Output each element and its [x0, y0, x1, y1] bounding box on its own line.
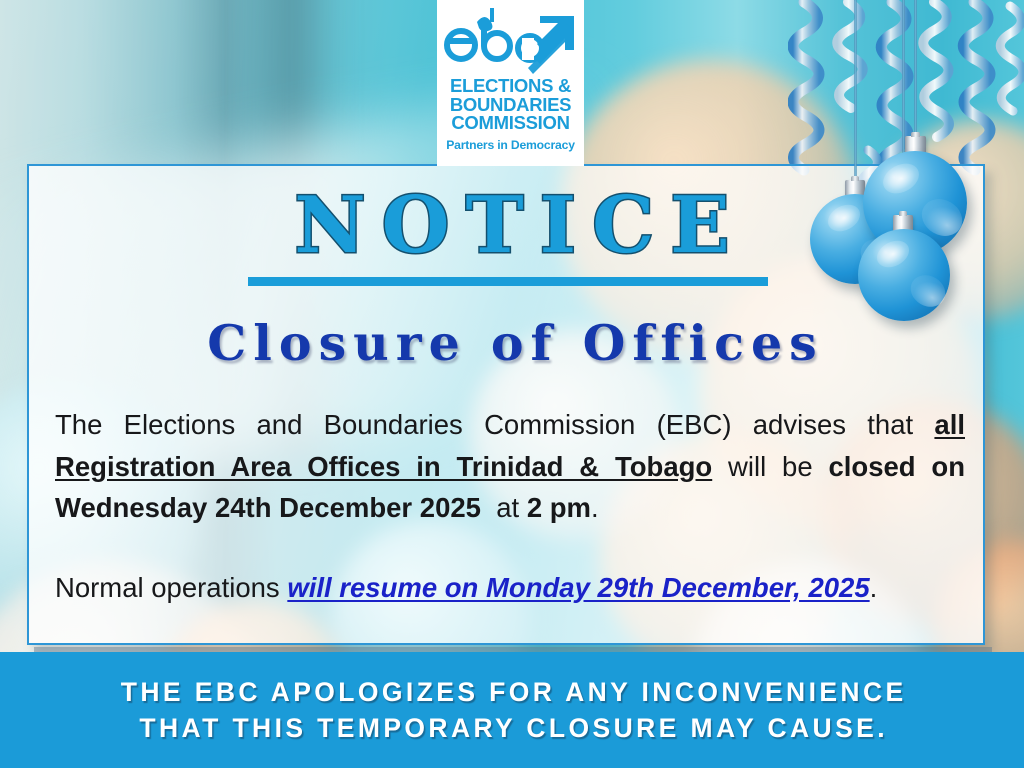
body-p2-period: . — [870, 572, 878, 603]
ebc-monogram-arrow-icon — [444, 8, 578, 74]
notice-poster: ELECTIONS & BOUNDARIES COMMISSION Partne… — [0, 0, 1024, 768]
body-paragraph-2: Normal operations will resume on Monday … — [55, 567, 965, 650]
notice-heading-wrap: NOTICE — [0, 186, 1024, 266]
page-title: NOTICE — [278, 186, 745, 266]
logo-name-line-1: ELECTIONS & — [450, 77, 571, 96]
body-p1-period: . — [591, 492, 599, 523]
title-underline-bar — [248, 277, 768, 286]
body-p1-part1: The Elections and Boundaries Commission … — [55, 409, 934, 440]
footer-line-2: THAT THIS TEMPORARY CLOSURE MAY CAUSE. — [136, 710, 888, 746]
body-paragraph-1: The Elections and Boundaries Commission … — [55, 404, 965, 529]
logo-name-line-3: COMMISSION — [450, 114, 571, 133]
body-p1-closure-time: 2 pm — [527, 492, 591, 523]
body-p1-part5: at — [481, 492, 527, 523]
body-p2-resume-date: will resume on Monday 29th December, 202… — [287, 572, 869, 603]
paragraph-spacer — [55, 529, 965, 567]
logo-tagline: Partners in Democracy — [446, 138, 575, 152]
body-p1-part3: will be — [712, 451, 828, 482]
footer-line-1: THE EBC APOLOGIZES FOR ANY INCONVENIENCE — [117, 674, 906, 710]
apology-footer-banner: THE EBC APOLOGIZES FOR ANY INCONVENIENCE… — [0, 652, 1024, 768]
body-p2-part1: Normal operations — [55, 572, 287, 603]
notice-body: The Elections and Boundaries Commission … — [55, 404, 965, 650]
page-subtitle: Closure of Offices — [0, 314, 1024, 372]
ebc-logo: ELECTIONS & BOUNDARIES COMMISSION Partne… — [437, 0, 584, 166]
